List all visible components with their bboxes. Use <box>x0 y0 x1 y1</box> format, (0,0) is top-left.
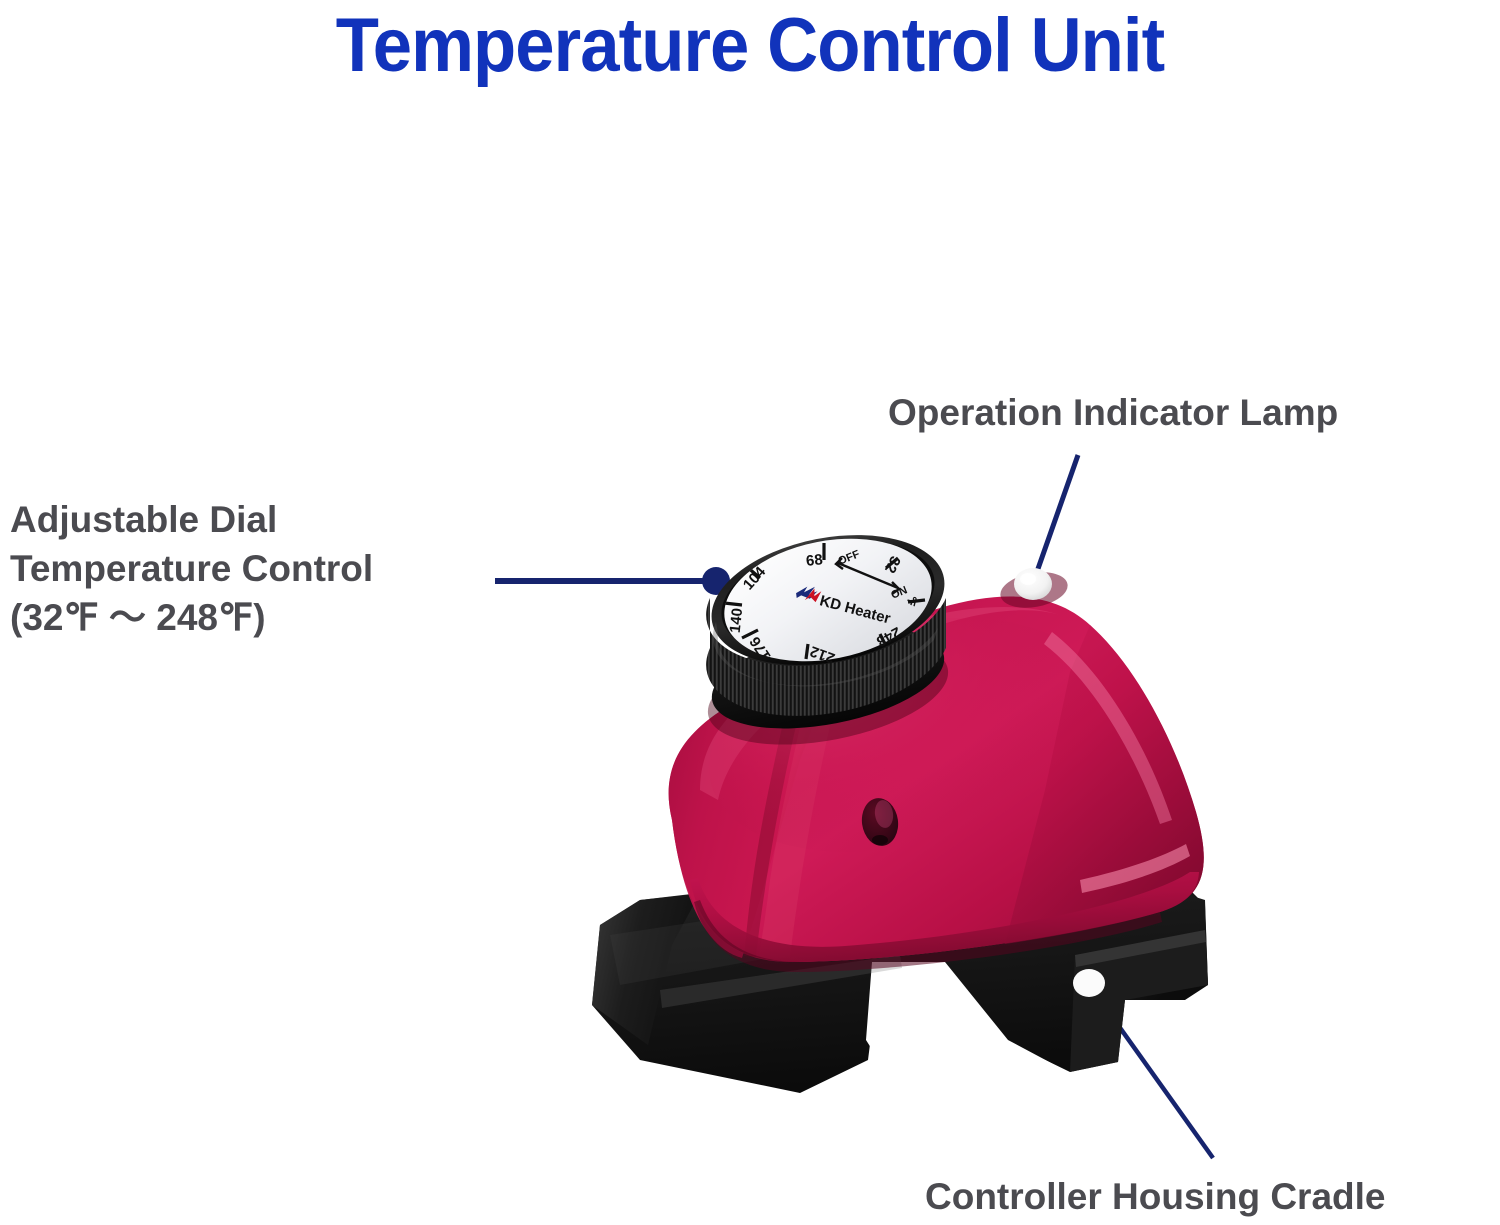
lamp-dome-highlight <box>1020 573 1036 585</box>
product-body <box>592 517 1208 1093</box>
callout-adjustable-dial-line-1: Adjustable Dial <box>10 495 373 544</box>
callout-adjustable-dial-line-2: Temperature Control <box>10 544 373 593</box>
leader-line-indicator-lamp <box>1033 455 1078 583</box>
callout-controller-housing-cradle: Controller Housing Cradle <box>925 1172 1385 1221</box>
cradle-mounting-hole <box>1073 969 1105 997</box>
product-diagram-canvas: Temperature Control Unit <box>0 0 1500 1225</box>
callout-adjustable-dial: Adjustable Dial Temperature Control (32℉… <box>10 495 373 643</box>
callout-adjustable-dial-line-3: (32℉ ～ 248℉) <box>10 593 373 642</box>
callout-operation-indicator-lamp: Operation Indicator Lamp <box>888 388 1338 437</box>
lamp-dome[interactable] <box>1014 568 1052 600</box>
